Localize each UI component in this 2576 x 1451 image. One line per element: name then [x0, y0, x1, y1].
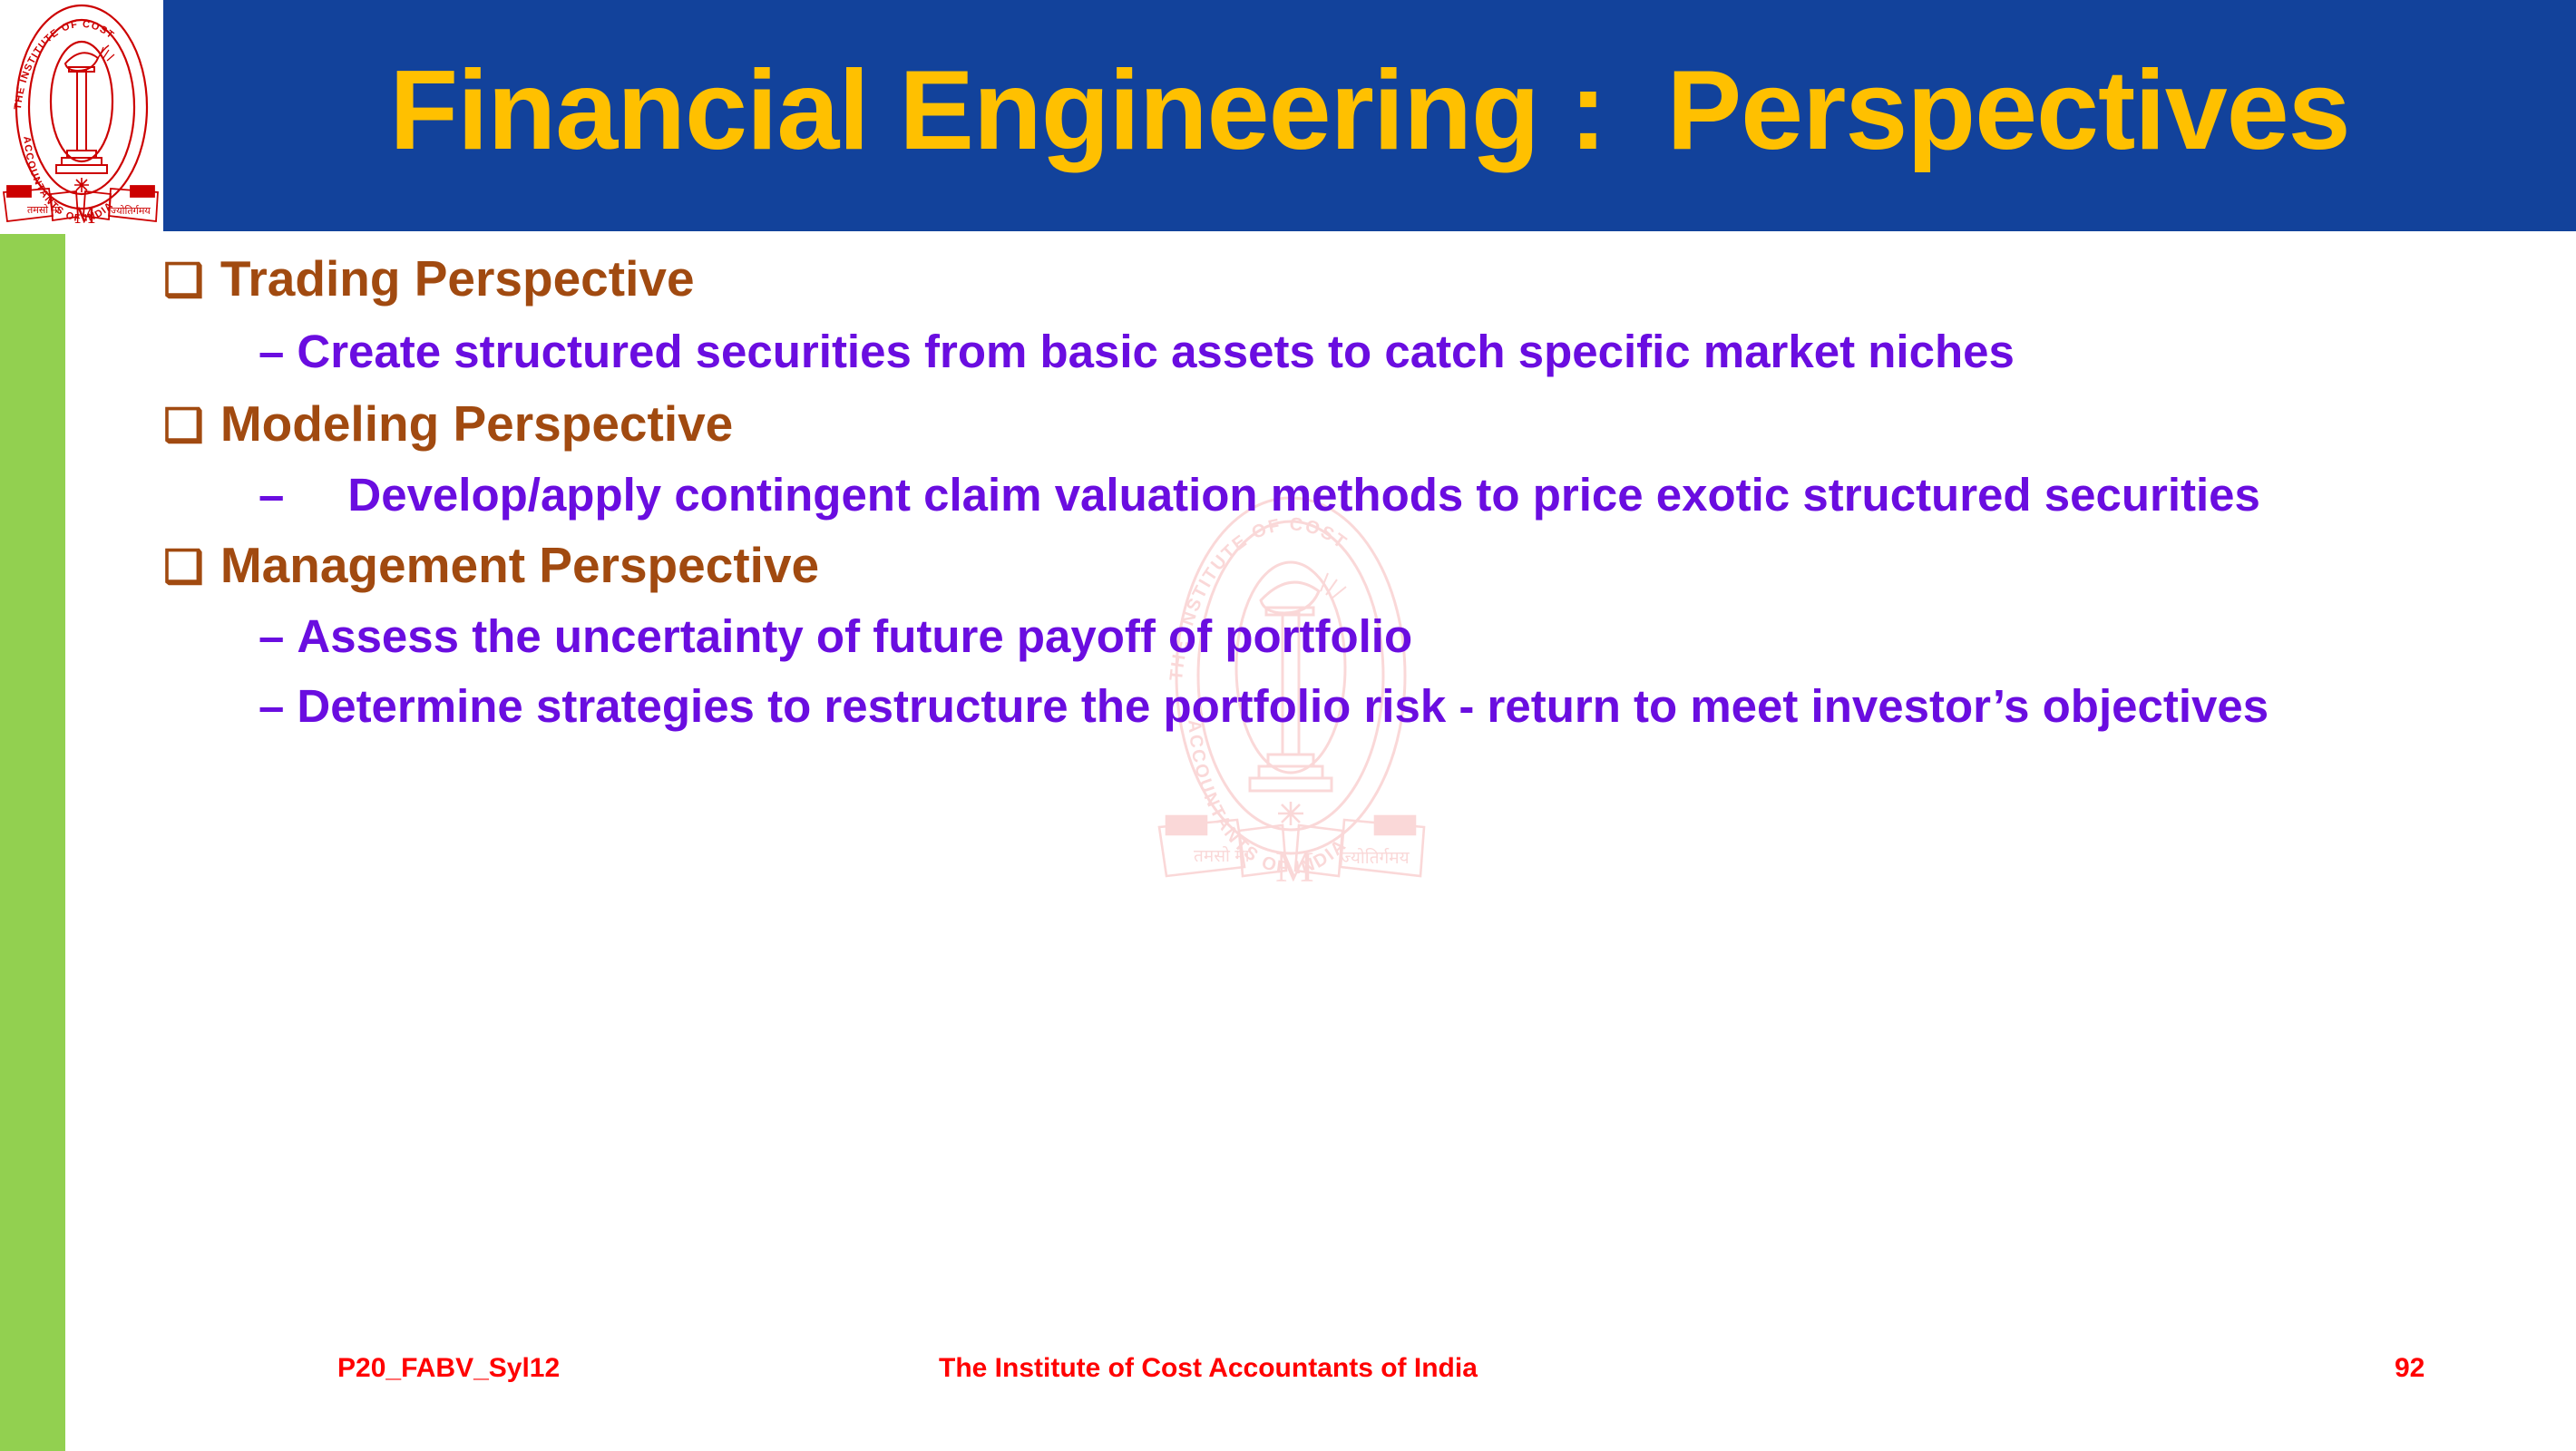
bullet-management-perspective: ❑ Management Perspective [163, 540, 2540, 590]
sub-bullet-label: Assess the uncertainty of future payoff … [297, 610, 2540, 662]
svg-text:THE INSTITUTE OF COST: THE INSTITUTE OF COST [13, 19, 116, 111]
sub-bullet-management-2: – Determine strategies to restructure th… [259, 680, 2540, 732]
sub-bullet-label: Develop/apply contingent claim valuation… [347, 469, 2345, 521]
sub-bullet-modeling-1: – Develop/apply contingent claim valuati… [259, 469, 2345, 521]
bullet-label: Management Perspective [220, 540, 819, 590]
dash-bullet-icon: – [259, 469, 284, 521]
slide-body: ❑ Trading Perspective – Create structure… [163, 254, 2540, 1306]
bullet-label: Modeling Perspective [220, 399, 733, 449]
footer-page-number: 92 [2395, 1353, 2425, 1384]
square-bullet-icon: ❑ [163, 544, 204, 589]
title-band: Financial Engineering : Perspectives [163, 0, 2576, 231]
svg-text:तमसो मा: तमसो मा [27, 204, 60, 216]
slide-canvas: Financial Engineering : Perspectives THE… [0, 0, 2576, 1451]
sub-bullet-label: Determine strategies to restructure the … [297, 680, 2540, 732]
dash-bullet-icon: – [259, 610, 284, 662]
sub-bullet-label: Create structured securities from basic … [297, 326, 2540, 377]
sub-bullet-management-1: – Assess the uncertainty of future payof… [259, 610, 2540, 662]
square-bullet-icon: ❑ [163, 403, 204, 448]
slide-footer: P20_FABV_Syl12 The Institute of Cost Acc… [0, 1353, 2576, 1404]
bullet-modeling-perspective: ❑ Modeling Perspective [163, 399, 2540, 449]
svg-text:ज्योतिर्गमय: ज्योतिर्गमय [111, 205, 151, 217]
bullet-trading-perspective: ❑ Trading Perspective [163, 254, 2540, 304]
svg-text:M: M [74, 202, 95, 229]
footer-course-code: P20_FABV_Syl12 [337, 1353, 560, 1384]
icai-emblem-logo: THE INSTITUTE OF COST ACCOUNTANTS OF IND… [0, 0, 163, 234]
footer-institute-name: The Institute of Cost Accountants of Ind… [939, 1353, 1478, 1384]
square-bullet-icon: ❑ [163, 258, 204, 303]
sub-bullet-trading-1: – Create structured securities from basi… [259, 326, 2540, 377]
bullet-label: Trading Perspective [220, 254, 695, 304]
page-title: Financial Engineering : Perspectives [163, 0, 2576, 231]
dash-bullet-icon: – [259, 326, 284, 377]
dash-bullet-icon: – [259, 680, 284, 732]
